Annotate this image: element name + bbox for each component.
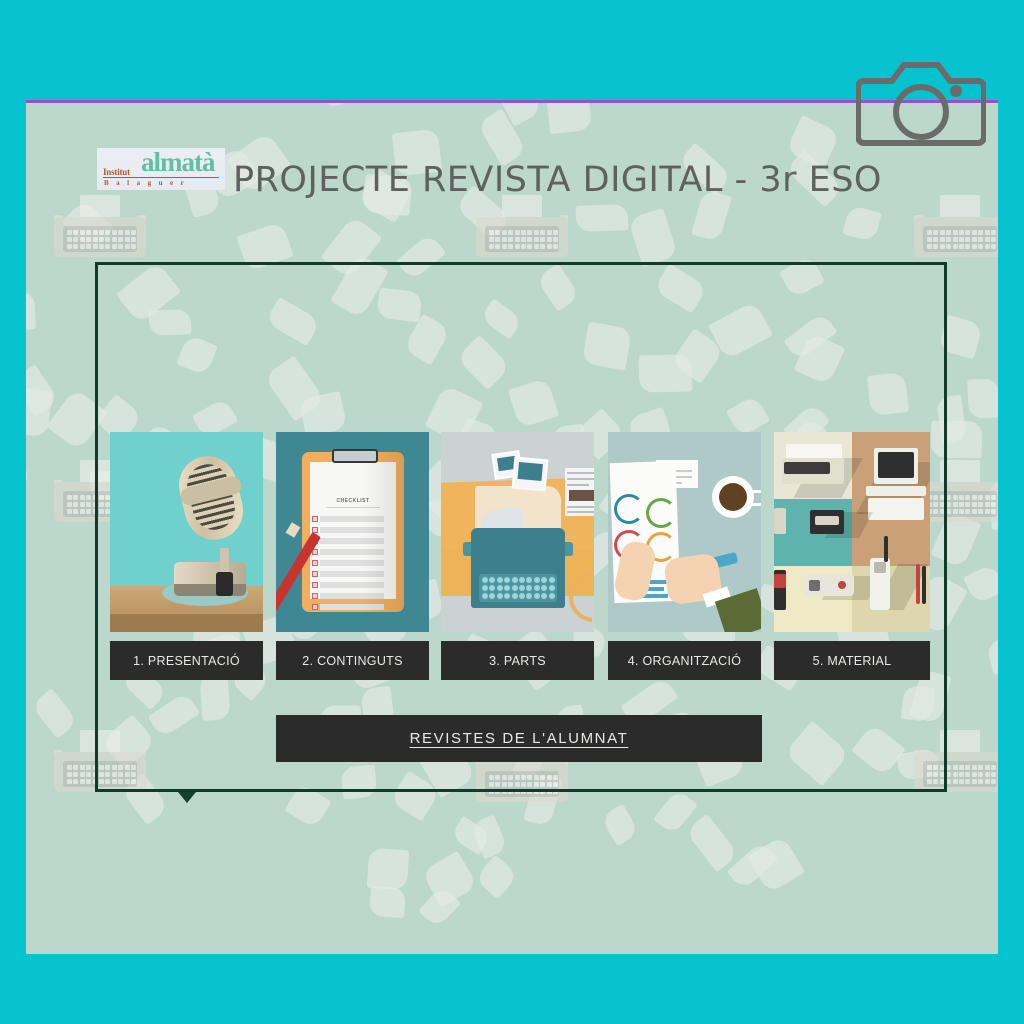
institut-almata-logo[interactable]: almatà Institut Balaguer (97, 148, 225, 190)
hands-writing-document-illustration[interactable] (608, 432, 761, 632)
logo-institut-text: Institut (103, 167, 130, 177)
navigation-cards: 1. PRESENTACIÓ CHECKLIST 2. CONTINGUTS (110, 432, 930, 680)
revistes-alumnat-button[interactable]: REVISTES DE L'ALUMNAT (276, 715, 762, 762)
nav-card-label: 4. ORGANITZACIÓ (608, 641, 761, 680)
nav-card-continguts[interactable]: CHECKLIST 2. CONTINGUTS (276, 432, 429, 680)
logo-almata-text: almatà (141, 149, 214, 176)
nav-card-organitzacio[interactable]: 4. ORGANITZACIÓ (608, 432, 761, 680)
nav-card-parts[interactable]: 3. PARTS (441, 432, 594, 680)
logo-balaguer-text: Balaguer (104, 179, 220, 187)
nav-card-material[interactable]: 5. MATERIAL (774, 432, 930, 680)
clipboard-checklist-illustration[interactable]: CHECKLIST (276, 432, 429, 632)
retro-technology-grid-illustration[interactable] (774, 432, 930, 632)
nav-card-label: 2. CONTINGUTS (276, 641, 429, 680)
nav-card-label: 3. PARTS (441, 641, 594, 680)
scroll-down-arrow-icon[interactable] (178, 792, 196, 803)
accent-top-line (26, 100, 998, 103)
nav-card-label: 5. MATERIAL (774, 641, 930, 680)
camera-icon[interactable] (856, 55, 986, 151)
vintage-microphone-photo[interactable] (110, 432, 263, 632)
revistes-alumnat-label: REVISTES DE L'ALUMNAT (410, 730, 629, 747)
typewriter-desk-illustration[interactable] (441, 432, 594, 632)
logo-rule (103, 177, 219, 178)
slide-canvas: almatà Institut Balaguer PROJECTE REVIST… (0, 0, 1024, 1024)
page-title: PROJECTE REVISTA DIGITAL - 3r ESO (233, 160, 882, 200)
nav-card-label: 1. PRESENTACIÓ (110, 641, 263, 680)
nav-card-presentacio[interactable]: 1. PRESENTACIÓ (110, 432, 263, 680)
